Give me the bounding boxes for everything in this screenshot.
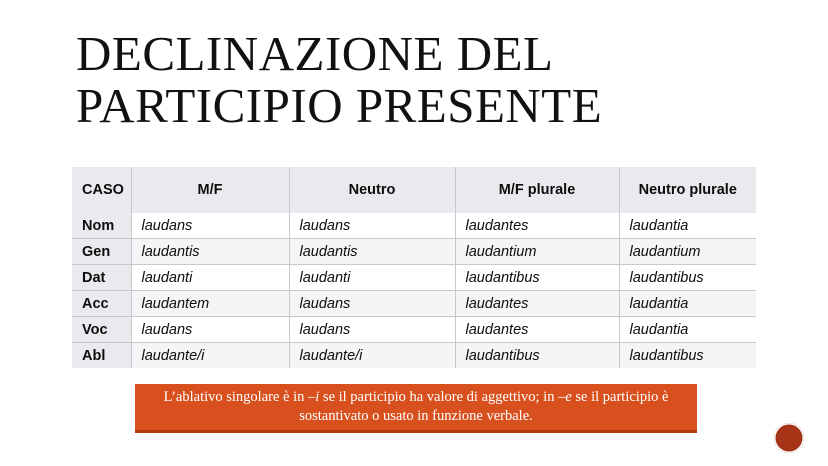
cell-nom-neutro: laudans xyxy=(289,213,455,239)
column-header-mf: M/F xyxy=(131,167,289,213)
table-row: Nomlaudanslaudanslaudanteslaudantia xyxy=(72,213,756,239)
table-header: CASO M/F Neutro M/F plurale Neutro plura… xyxy=(72,167,756,213)
note-callout-text: L’ablativo singolare è in –i se il parti… xyxy=(149,388,683,426)
table-row: Genlaudantislaudantislaudantiumlaudantiu… xyxy=(72,239,756,265)
table-header-row: CASO M/F Neutro M/F plurale Neutro plura… xyxy=(72,167,756,213)
case-label-nom: Nom xyxy=(72,213,131,239)
case-label-acc: Acc xyxy=(72,291,131,317)
cell-gen-neutro-plurale: laudantium xyxy=(619,239,756,265)
note-part-1: L’ablativo singolare è in xyxy=(164,389,308,405)
note-part-2: se il participio ha valore di aggettivo;… xyxy=(319,389,558,405)
column-header-neutro-plurale: Neutro plurale xyxy=(619,167,756,213)
cell-nom-neutro-plurale: laudantia xyxy=(619,213,756,239)
note-emphasis-e: –e xyxy=(558,389,572,405)
cell-gen-mf: laudantis xyxy=(131,239,289,265)
cell-acc-mf-plurale: laudantes xyxy=(455,291,619,317)
table-row: Acclaudantemlaudanslaudanteslaudantia xyxy=(72,291,756,317)
table-body: NomlaudanslaudanslaudanteslaudantiaGenla… xyxy=(72,213,756,368)
cell-nom-mf-plurale: laudantes xyxy=(455,213,619,239)
cell-voc-neutro: laudans xyxy=(289,317,455,343)
cell-abl-neutro: laudante/i xyxy=(289,343,455,369)
case-label-dat: Dat xyxy=(72,265,131,291)
cell-abl-mf: laudante/i xyxy=(131,343,289,369)
note-callout: L’ablativo singolare è in –i se il parti… xyxy=(135,384,697,433)
cell-acc-neutro-plurale: laudantia xyxy=(619,291,756,317)
cell-dat-mf-plurale: laudantibus xyxy=(455,265,619,291)
table-row: Datlaudantilaudantilaudantibuslaudantibu… xyxy=(72,265,756,291)
cell-voc-mf: laudans xyxy=(131,317,289,343)
cell-voc-mf-plurale: laudantes xyxy=(455,317,619,343)
cell-abl-mf-plurale: laudantibus xyxy=(455,343,619,369)
cell-gen-mf-plurale: laudantium xyxy=(455,239,619,265)
cell-abl-neutro-plurale: laudantibus xyxy=(619,343,756,369)
column-header-neutro: Neutro xyxy=(289,167,455,213)
cell-dat-mf: laudanti xyxy=(131,265,289,291)
note-emphasis-i: –i xyxy=(308,389,319,405)
cell-dat-neutro: laudanti xyxy=(289,265,455,291)
case-label-abl: Abl xyxy=(72,343,131,369)
table-row: Abllaudante/ilaudante/ilaudantibuslaudan… xyxy=(72,343,756,369)
cell-dat-neutro-plurale: laudantibus xyxy=(619,265,756,291)
slide-canvas: { "slide": { "title": "DECLINAZIONE DEL\… xyxy=(0,0,828,466)
case-label-voc: Voc xyxy=(72,317,131,343)
column-header-mf-plurale: M/F plurale xyxy=(455,167,619,213)
decorative-circle xyxy=(774,423,804,453)
cell-voc-neutro-plurale: laudantia xyxy=(619,317,756,343)
declension-table: CASO M/F Neutro M/F plurale Neutro plura… xyxy=(72,167,756,368)
cell-nom-mf: laudans xyxy=(131,213,289,239)
page-title: DECLINAZIONE DEL PARTICIPIO PRESENTE xyxy=(76,28,776,132)
cell-gen-neutro: laudantis xyxy=(289,239,455,265)
column-header-caso: CASO xyxy=(72,167,131,213)
case-label-gen: Gen xyxy=(72,239,131,265)
cell-acc-mf: laudantem xyxy=(131,291,289,317)
cell-acc-neutro: laudans xyxy=(289,291,455,317)
table-row: Voclaudanslaudanslaudanteslaudantia xyxy=(72,317,756,343)
